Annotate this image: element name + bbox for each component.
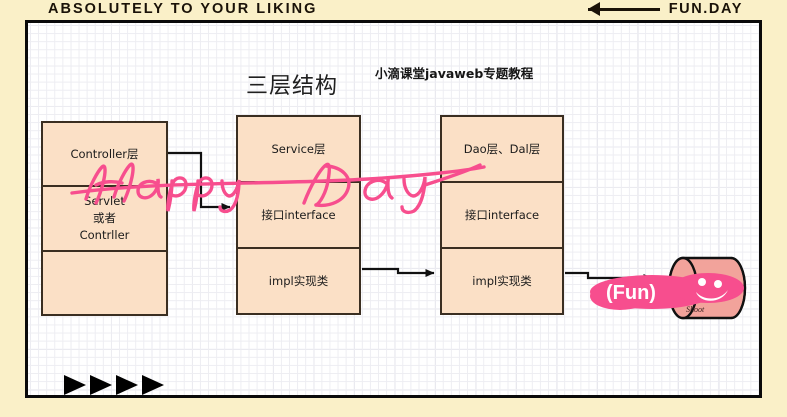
diagram-subtitle: 小滴课堂javaweb专题教程 [375, 63, 533, 82]
banner-right-group: FUN.DAY [588, 1, 743, 17]
cell-controller-line-2: 或者 [93, 211, 116, 225]
cell-dao-impl: impl实现类 [442, 247, 562, 313]
cell-controller-detail: Servlet 或者 Contrller [43, 185, 166, 249]
arrow-left-icon [588, 2, 660, 16]
cell-service-title: Service层 [238, 117, 359, 181]
cell-service-impl: impl实现类 [238, 247, 359, 313]
cell-controller-empty [43, 250, 166, 314]
cell-controller-title: Controller层 [43, 123, 166, 185]
play-arrow-icon [90, 375, 112, 395]
cell-dao-interface: 接口interface [442, 181, 562, 247]
layer-column-controller[interactable]: Controller层 Servlet 或者 Contrller [41, 121, 168, 316]
page-title: 三层结构 [246, 68, 338, 100]
diagram-canvas: 三层结构 小滴课堂javaweb专题教程 Controller层 Servlet… [25, 20, 762, 398]
play-arrow-icon [142, 375, 164, 395]
layer-column-dao[interactable]: Dao层、Dal层 接口interface impl实现类 [440, 115, 564, 315]
play-arrows-group [64, 375, 164, 395]
cell-dao-title: Dao层、Dal层 [442, 117, 562, 181]
top-banner: ABSOLUTELY TO YOUR LIKING FUN.DAY [0, 0, 787, 20]
banner-right-text: FUN.DAY [669, 1, 743, 17]
cell-controller-line-3: Contrller [80, 228, 130, 242]
play-arrow-icon [64, 375, 86, 395]
screenshot-root: ABSOLUTELY TO YOUR LIKING FUN.DAY 三层结构 小… [0, 0, 787, 417]
cell-controller-line-1: Servlet [84, 194, 125, 208]
play-arrow-icon [116, 375, 138, 395]
layer-column-service[interactable]: Service层 接口interface impl实现类 [236, 115, 361, 315]
banner-left-text: ABSOLUTELY TO YOUR LIKING [48, 1, 317, 17]
cell-service-interface: 接口interface [238, 181, 359, 247]
database-cylinder[interactable] [666, 253, 748, 323]
